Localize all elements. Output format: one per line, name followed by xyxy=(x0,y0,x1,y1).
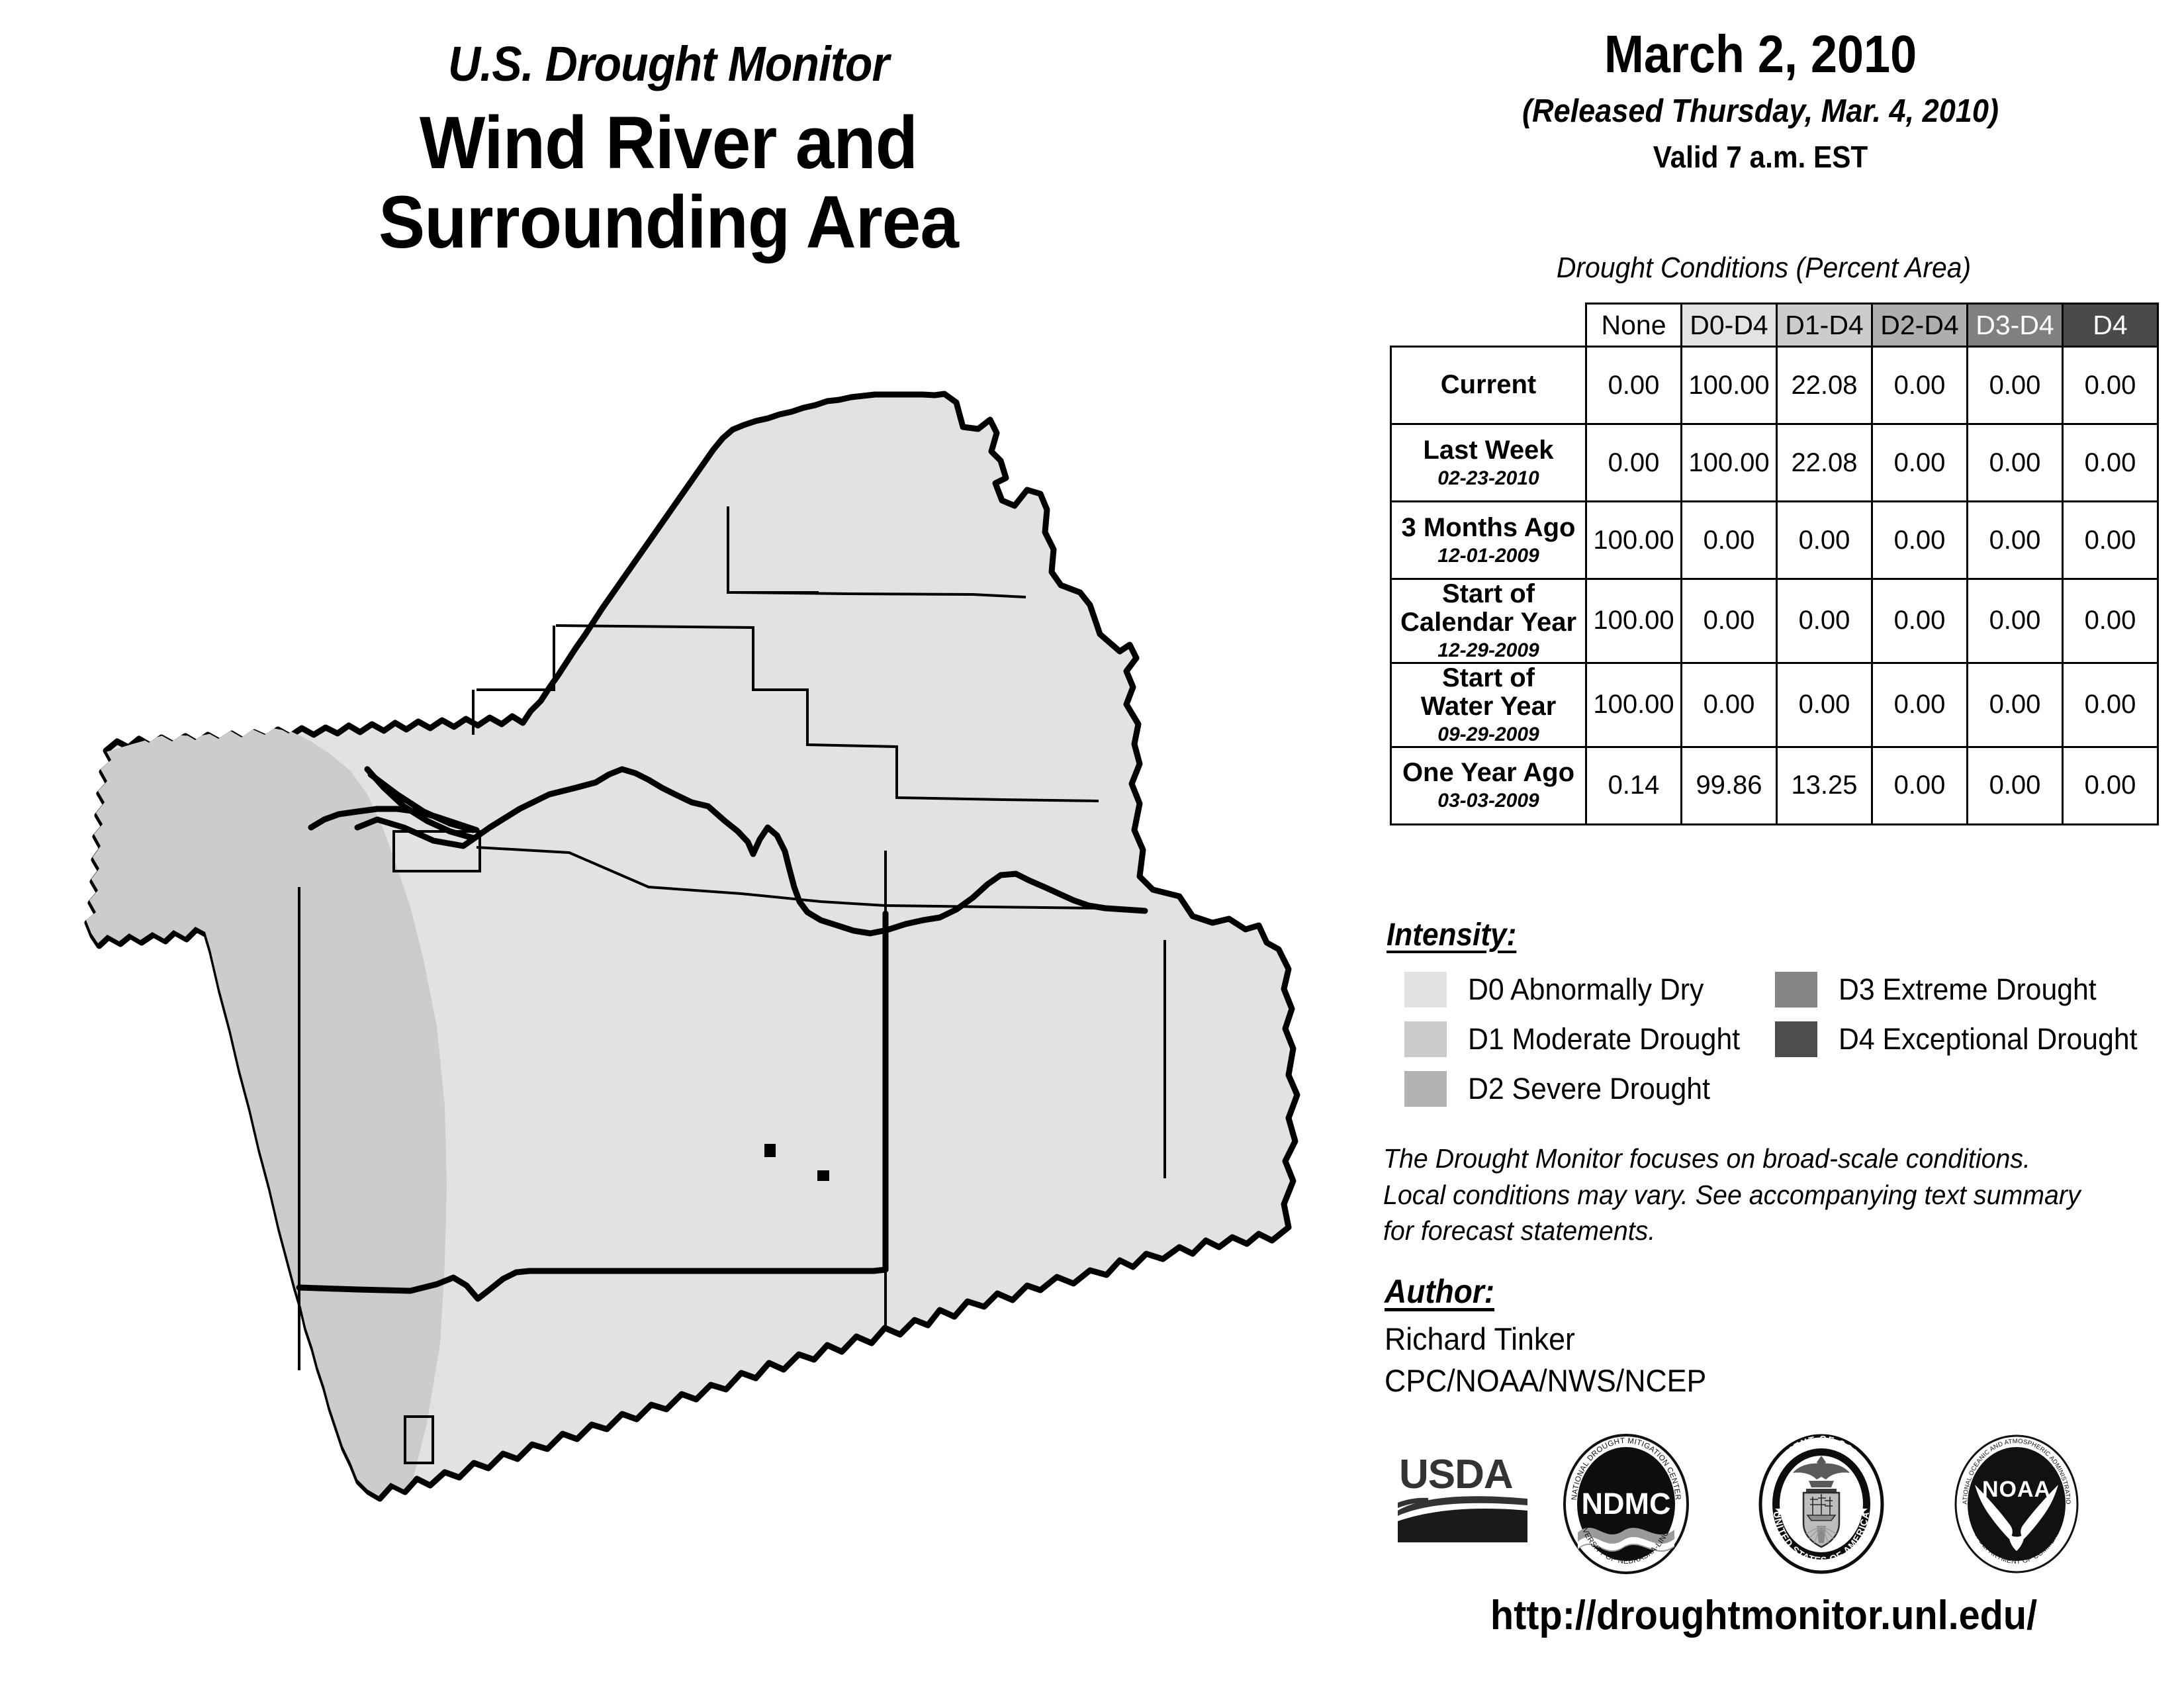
page-title-line2: Surrounding Area xyxy=(40,183,1297,262)
cell-cy-none: 100.00 xyxy=(1586,579,1682,663)
cell-wy-d1d4: 0.00 xyxy=(1777,663,1872,747)
cell-wy-none: 100.00 xyxy=(1586,663,1682,747)
report-header: March 2, 2010 (Released Thursday, Mar. 4… xyxy=(1363,28,2158,175)
table-row: 3 Months Ago 12-01-2009 100.00 0.00 0.00… xyxy=(1391,502,2158,579)
cell-wy-d0d4: 0.00 xyxy=(1682,663,1777,747)
table-header-row: None D0-D4 D1-D4 D2-D4 D3-D4 D4 xyxy=(1391,304,2158,347)
cell-wy-d4: 0.00 xyxy=(2063,663,2158,747)
legend-label-d2: D2 Severe Drought xyxy=(1468,1072,1710,1106)
col-header-d4: D4 xyxy=(2063,304,2158,347)
disclaimer-text: The Drought Monitor focuses on broad-sca… xyxy=(1383,1141,2133,1249)
table-row: Last Week 02-23-2010 0.00 100.00 22.08 0… xyxy=(1391,424,2158,502)
cell-lastweek-d0d4: 100.00 xyxy=(1682,424,1777,502)
legend-swatch-d4 xyxy=(1775,1021,1817,1057)
legend-item-d1: D1 Moderate Drought xyxy=(1404,1021,1754,1057)
drought-conditions-table: None D0-D4 D1-D4 D2-D4 D3-D4 D4 Current … xyxy=(1390,303,2159,825)
col-header-none: None xyxy=(1586,304,1682,347)
disclaimer-line-2: Local conditions may vary. See accompany… xyxy=(1383,1177,2133,1213)
row-label-text: Last Week xyxy=(1423,436,1553,465)
cell-lastweek-d1d4: 22.08 xyxy=(1777,424,1872,502)
table-row: Current 0.00 100.00 22.08 0.00 0.00 0.00 xyxy=(1391,347,2158,424)
legend-label-d3: D3 Extreme Drought xyxy=(1839,972,2097,1007)
legend-item-d0: D0 Abnormally Dry xyxy=(1404,972,1716,1008)
author-heading: Author: xyxy=(1385,1272,1494,1311)
usda-logo: USDA xyxy=(1396,1450,1529,1546)
ndmc-logo: NDMC NATIONAL DROUGHT MITIGATION CENTER … xyxy=(1562,1433,1691,1575)
col-header-d1-d4: D1-D4 xyxy=(1777,304,1872,347)
disclaimer-line-3: for forecast statements. xyxy=(1383,1213,2133,1249)
cell-3mo-d2d4: 0.00 xyxy=(1872,502,1968,579)
issue-date: March 2, 2010 xyxy=(1403,28,2118,81)
page-title: Wind River and Surrounding Area xyxy=(40,103,1297,262)
row-label-text: One Year Ago xyxy=(1402,758,1574,787)
valid-time: Valid 7 a.m. EST xyxy=(1395,139,2126,175)
drought-monitor-url[interactable]: http://droughtmonitor.unl.edu/ xyxy=(1391,1592,2136,1639)
legend-label-d0: D0 Abnormally Dry xyxy=(1468,972,1704,1007)
author-name: Richard Tinker xyxy=(1385,1321,1575,1357)
table-caption: Drought Conditions (Percent Area) xyxy=(1391,252,2136,285)
col-header-d0-d4: D0-D4 xyxy=(1682,304,1777,347)
disclaimer-line-1: The Drought Monitor focuses on broad-sca… xyxy=(1383,1141,2133,1177)
legend-label-d4: D4 Exceptional Drought xyxy=(1839,1022,2138,1056)
row-label-3-months-ago: 3 Months Ago 12-01-2009 xyxy=(1391,502,1586,579)
row-label-last-week: Last Week 02-23-2010 xyxy=(1391,424,1586,502)
page-title-line1: Wind River and xyxy=(420,101,917,184)
cell-3mo-d3d4: 0.00 xyxy=(1968,502,2063,579)
cell-3mo-d0d4: 0.00 xyxy=(1682,502,1777,579)
cell-cy-d3d4: 0.00 xyxy=(1968,579,2063,663)
cell-3mo-d1d4: 0.00 xyxy=(1777,502,1872,579)
cell-cy-d1d4: 0.00 xyxy=(1777,579,1872,663)
program-title: U.S. Drought Monitor xyxy=(54,40,1283,89)
row-label-date: 12-01-2009 xyxy=(1392,545,1585,567)
noaa-logo-text: NOAA xyxy=(1982,1477,2051,1502)
row-label-start-calendar-year: Start of Calendar Year 12-29-2009 xyxy=(1391,579,1586,663)
drought-monitor-page: U.S. Drought Monitor Wind River and Surr… xyxy=(0,0,2184,1688)
partner-logos: USDA NDMC NATIONAL DROUGHT MITIGATION CE… xyxy=(1387,1433,2148,1575)
table-row: Start of Water Year 09-29-2009 100.00 0.… xyxy=(1391,663,2158,747)
release-date: (Released Thursday, Mar. 4, 2010) xyxy=(1395,93,2126,130)
title-block: U.S. Drought Monitor Wind River and Surr… xyxy=(0,40,1337,262)
cell-1yr-d3d4: 0.00 xyxy=(1968,747,2063,824)
row-label-text: 3 Months Ago xyxy=(1402,513,1576,542)
row-label-date: 09-29-2009 xyxy=(1392,724,1585,745)
cell-wy-d2d4: 0.00 xyxy=(1872,663,1968,747)
cell-lastweek-d2d4: 0.00 xyxy=(1872,424,1968,502)
author-organization: CPC/NOAA/NWS/NCEP xyxy=(1385,1362,1706,1399)
department-of-commerce-seal: DEPARTMENT OF COMMERCE UNITED STATES OF … xyxy=(1757,1433,1886,1575)
cell-1yr-d2d4: 0.00 xyxy=(1872,747,1968,824)
table-row: One Year Ago 03-03-2009 0.14 99.86 13.25… xyxy=(1391,747,2158,824)
row-label-text-line2: Water Year xyxy=(1421,692,1557,721)
col-header-d2-d4: D2-D4 xyxy=(1872,304,1968,347)
table-corner-cell xyxy=(1391,304,1586,347)
cell-1yr-none: 0.14 xyxy=(1586,747,1682,824)
table-row: Start of Calendar Year 12-29-2009 100.00… xyxy=(1391,579,2158,663)
cell-1yr-d4: 0.00 xyxy=(2063,747,2158,824)
row-label-current: Current xyxy=(1391,347,1586,424)
cell-current-d0d4: 100.00 xyxy=(1682,347,1777,424)
cell-3mo-none: 100.00 xyxy=(1586,502,1682,579)
row-label-one-year-ago: One Year Ago 03-03-2009 xyxy=(1391,747,1586,824)
cell-lastweek-none: 0.00 xyxy=(1586,424,1682,502)
cell-cy-d0d4: 0.00 xyxy=(1682,579,1777,663)
legend-label-d1: D1 Moderate Drought xyxy=(1468,1022,1740,1056)
legend-swatch-d2 xyxy=(1404,1071,1447,1107)
cell-current-d3d4: 0.00 xyxy=(1968,347,2063,424)
cell-cy-d4: 0.00 xyxy=(2063,579,2158,663)
row-label-date: 03-03-2009 xyxy=(1392,790,1585,812)
legend-swatch-d1 xyxy=(1404,1021,1447,1057)
cell-3mo-d4: 0.00 xyxy=(2063,502,2158,579)
row-label-text: Current xyxy=(1441,370,1536,399)
cell-current-d1d4: 22.08 xyxy=(1777,347,1872,424)
cell-current-d2d4: 0.00 xyxy=(1872,347,1968,424)
row-label-text-line1: Start of xyxy=(1442,579,1535,608)
usda-logo-text: USDA xyxy=(1399,1452,1513,1497)
col-header-d3-d4: D3-D4 xyxy=(1968,304,2063,347)
row-label-date: 02-23-2010 xyxy=(1392,468,1585,489)
legend-item-d2: D2 Severe Drought xyxy=(1404,1071,1723,1107)
row-label-text-line1: Start of xyxy=(1442,663,1535,692)
noaa-logo: NOAA NATIONAL OCEANIC AND ATMOSPHERIC AD… xyxy=(1952,1433,2081,1575)
legend-item-d3: D3 Extreme Drought xyxy=(1775,972,2110,1008)
row-label-date: 12-29-2009 xyxy=(1392,640,1585,661)
cell-current-none: 0.00 xyxy=(1586,347,1682,424)
ndmc-logo-text: NDMC xyxy=(1582,1487,1671,1521)
cell-wy-d3d4: 0.00 xyxy=(1968,663,2063,747)
intensity-heading: Intensity: xyxy=(1387,917,1516,953)
cell-1yr-d0d4: 99.86 xyxy=(1682,747,1777,824)
cell-lastweek-d3d4: 0.00 xyxy=(1968,424,2063,502)
legend-item-d4: D4 Exceptional Drought xyxy=(1775,1021,2153,1057)
cell-cy-d2d4: 0.00 xyxy=(1872,579,1968,663)
map-svg xyxy=(66,364,1337,1503)
legend-swatch-d3 xyxy=(1775,972,1817,1008)
row-label-text-line2: Calendar Year xyxy=(1400,608,1576,637)
cell-1yr-d1d4: 13.25 xyxy=(1777,747,1872,824)
cell-current-d4: 0.00 xyxy=(2063,347,2158,424)
drought-map[interactable] xyxy=(66,364,1337,1503)
legend-swatch-d0 xyxy=(1404,972,1447,1008)
row-label-start-water-year: Start of Water Year 09-29-2009 xyxy=(1391,663,1586,747)
cell-lastweek-d4: 0.00 xyxy=(2063,424,2158,502)
